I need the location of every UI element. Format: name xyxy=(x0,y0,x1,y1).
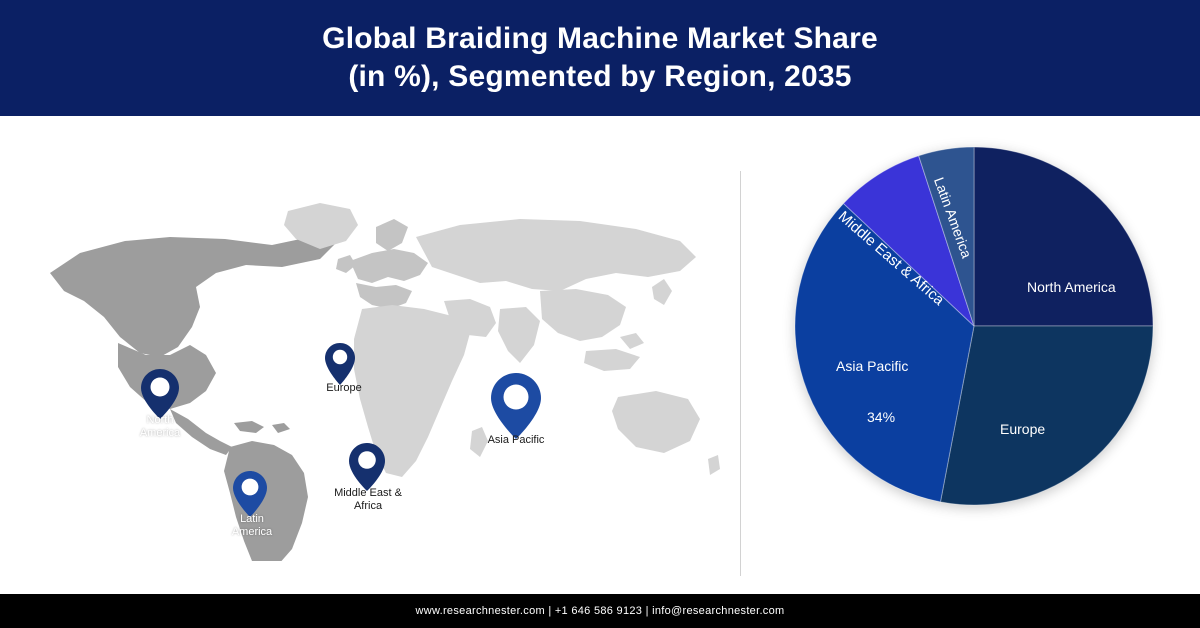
header-banner: Global Braiding Machine Market Share (in… xyxy=(0,0,1200,116)
page-title-line-1: Global Braiding Machine Market Share xyxy=(322,20,878,58)
pie-chart: North America Europe Asia Pacific 34% Mi… xyxy=(784,136,1164,516)
map-marker-north-america[interactable]: North America xyxy=(140,368,180,424)
map-marker-latin-america[interactable]: Latin America xyxy=(232,470,272,526)
page-title-line-2: (in %), Segmented by Region, 2035 xyxy=(348,58,851,96)
pie-chart-graphic xyxy=(784,136,1164,516)
map-marker-asia-pacific[interactable]: Asia Pacific xyxy=(490,372,542,428)
map-marker-label-north-america: North America xyxy=(140,414,180,440)
footer-bar: www.researchnester.com | +1 646 586 9123… xyxy=(0,594,1200,628)
pie-slice-europe[interactable] xyxy=(940,326,1153,505)
map-marker-label-middle-east-africa: Middle East & Africa xyxy=(334,487,402,513)
location-pin-icon xyxy=(232,470,268,518)
location-pin-icon xyxy=(490,372,542,440)
map-marker-middle-east-africa[interactable]: Middle East & Africa xyxy=(348,442,388,498)
location-pin-icon xyxy=(348,442,386,492)
world-map-panel: North America Europe Asia Pacific xyxy=(0,116,740,594)
map-marker-label-europe: Europe xyxy=(326,382,361,395)
infographic-page: Global Braiding Machine Market Share (in… xyxy=(0,0,1200,628)
map-marker-label-asia-pacific: Asia Pacific xyxy=(488,434,545,447)
pie-slice-north-america[interactable] xyxy=(974,147,1153,326)
pie-chart-panel: North America Europe Asia Pacific 34% Mi… xyxy=(740,116,1200,594)
footer-contact-text: www.researchnester.com | +1 646 586 9123… xyxy=(415,605,784,617)
location-pin-icon xyxy=(140,368,180,420)
map-marker-label-latin-america: Latin America xyxy=(232,513,272,539)
map-marker-europe[interactable]: Europe xyxy=(324,342,364,398)
location-pin-icon xyxy=(324,342,356,386)
content-area: North America Europe Asia Pacific xyxy=(0,116,1200,594)
